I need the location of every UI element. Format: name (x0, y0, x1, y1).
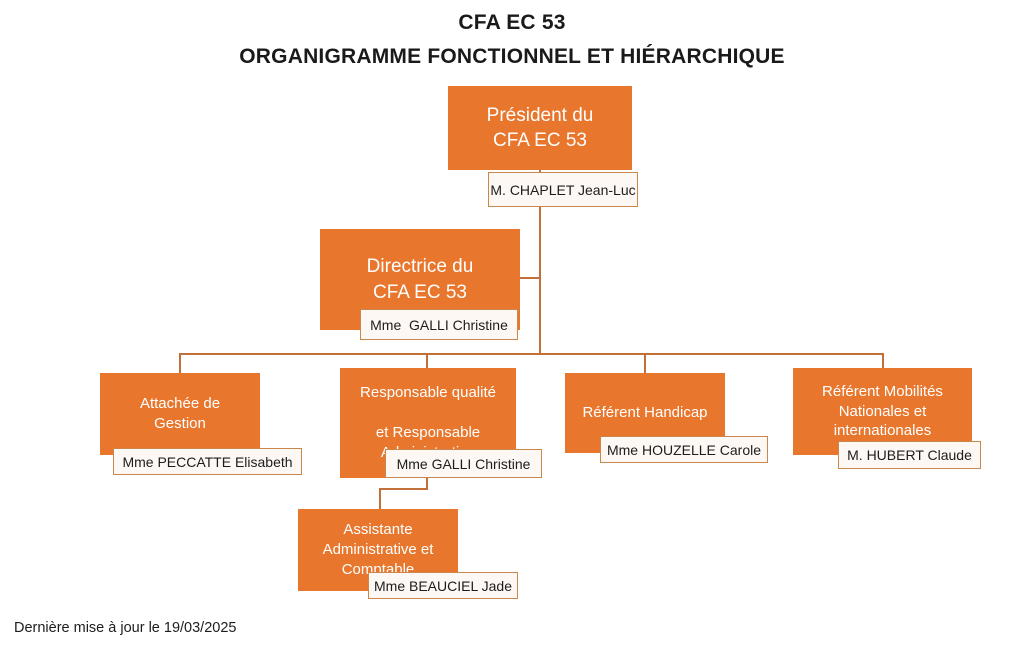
nameplate-responsable-qualite-text: Mme GALLI Christine (397, 456, 531, 472)
node-referent-mobilites-role: Référent Mobilités Nationales et interna… (793, 382, 972, 441)
connector-drop-referent-handicap (644, 353, 646, 374)
nameplate-referent-handicap[interactable]: Mme HOUZELLE Carole (600, 436, 768, 463)
node-referent-handicap-role: Référent Handicap (565, 403, 725, 423)
page-title-line-1: CFA EC 53 (0, 11, 1024, 35)
nameplate-assistante-text: Mme BEAUCIEL Jade (374, 578, 512, 594)
connector-responsable-to-assistante-h (379, 488, 428, 490)
nameplate-president-text: M. CHAPLET Jean-Luc (490, 182, 635, 198)
connector-drop-attachee-gestion (179, 353, 181, 374)
nameplate-referent-handicap-text: Mme HOUZELLE Carole (607, 442, 761, 458)
node-directrice-role: Directrice du CFA EC 53 (320, 254, 520, 304)
nameplate-referent-mobilites-text: M. HUBERT Claude (847, 447, 972, 463)
nameplate-responsable-qualite[interactable]: Mme GALLI Christine (385, 449, 542, 478)
node-attachee-gestion-role: Attachée de Gestion (100, 394, 260, 434)
nameplate-attachee-gestion[interactable]: Mme PECCATTE Elisabeth (113, 448, 302, 475)
last-update-note: Dernière mise à jour le 19/03/2025 (14, 620, 236, 636)
nameplate-referent-mobilites[interactable]: M. HUBERT Claude (838, 441, 981, 469)
node-president[interactable]: Président du CFA EC 53 (448, 86, 632, 170)
nameplate-attachee-gestion-text: Mme PECCATTE Elisabeth (122, 454, 292, 470)
connector-bus-row3 (179, 353, 884, 355)
node-attachee-gestion[interactable]: Attachée de Gestion (100, 373, 260, 455)
nameplate-assistante[interactable]: Mme BEAUCIEL Jade (368, 572, 518, 599)
page-title-line-2: ORGANIGRAMME FONCTIONNEL ET HIÉRARCHIQUE (0, 45, 1024, 69)
organigramme-page: CFA EC 53 ORGANIGRAMME FONCTIONNEL ET HI… (0, 0, 1024, 651)
node-assistante-role: Assistante Administrative et Comptable (298, 520, 458, 579)
nameplate-directrice-text: Mme GALLI Christine (370, 317, 508, 333)
node-president-role: Président du CFA EC 53 (448, 103, 632, 153)
nameplate-directrice[interactable]: Mme GALLI Christine (360, 309, 518, 340)
connector-responsable-to-assistante-v2 (379, 488, 381, 509)
nameplate-president[interactable]: M. CHAPLET Jean-Luc (488, 172, 638, 207)
